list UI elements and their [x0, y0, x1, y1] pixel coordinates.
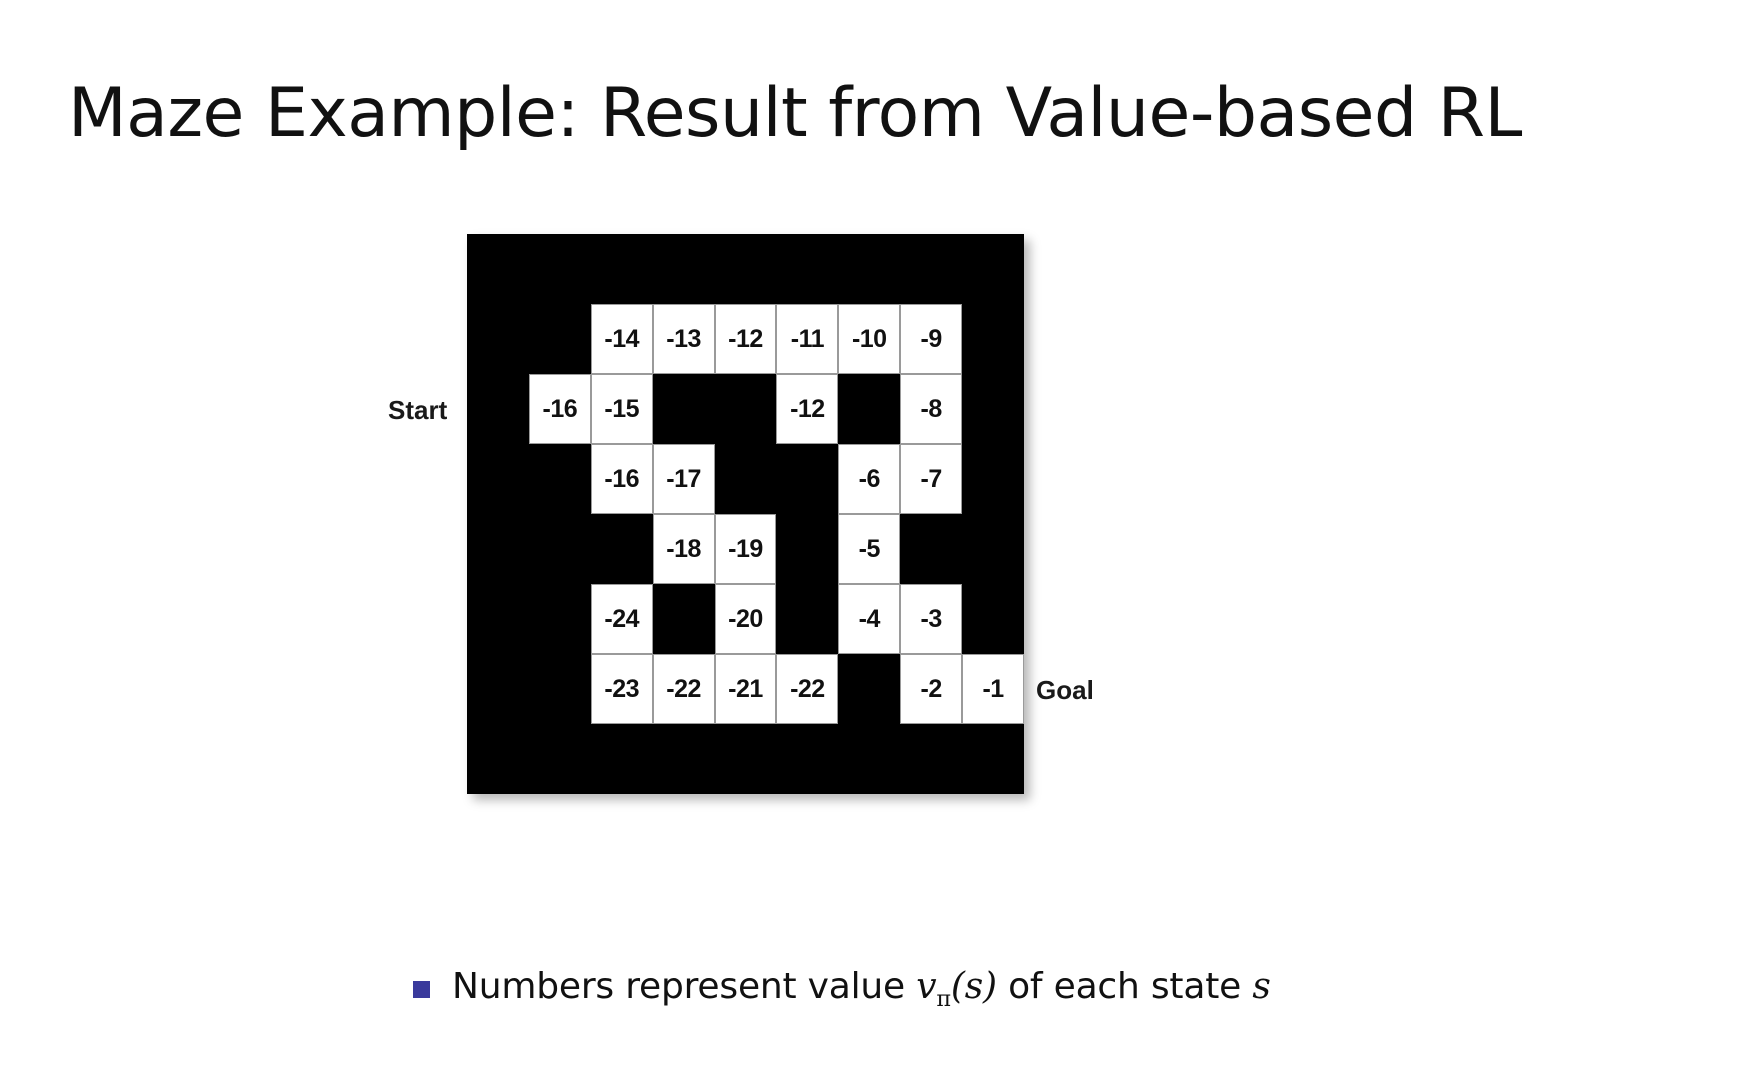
- maze-cell-wall: [467, 234, 529, 304]
- maze-cell-wall: [653, 234, 715, 304]
- maze-cell-open: -16: [591, 444, 653, 514]
- maze-cell-open: -18: [653, 514, 715, 584]
- maze-cell-open: -7: [900, 444, 962, 514]
- maze-cell-wall: [467, 514, 529, 584]
- maze-cell-open: -8: [900, 374, 962, 444]
- maze-cell-wall: [776, 444, 838, 514]
- maze-cell-open: -2: [900, 654, 962, 724]
- maze-cell-value: -5: [859, 537, 880, 562]
- maze-cell-wall: [529, 444, 591, 514]
- maze-cell-value: -20: [728, 607, 763, 632]
- maze-cell-wall: [591, 514, 653, 584]
- maze-cell-value: -14: [604, 327, 639, 352]
- maze-cell-wall: [467, 374, 529, 444]
- maze-cell-wall: [838, 234, 900, 304]
- maze-figure: Start Goal -14-13-12-11-10-9-16-15-12-8-…: [0, 0, 1744, 1080]
- start-label: Start: [388, 395, 447, 426]
- maze-cell-open: -11: [776, 304, 838, 374]
- maze-cell-value: -8: [921, 397, 942, 422]
- maze-cell-wall: [529, 654, 591, 724]
- maze-cell-open: -6: [838, 444, 900, 514]
- maze-cell-wall: [467, 654, 529, 724]
- maze-cell-value: -21: [728, 677, 763, 702]
- maze-cell-wall: [529, 234, 591, 304]
- math-value-symbol: vπ: [916, 966, 951, 1007]
- maze-cell-open: -19: [715, 514, 777, 584]
- maze-cell-wall: [715, 374, 777, 444]
- maze-cell-wall: [838, 654, 900, 724]
- maze-cell-wall: [962, 234, 1024, 304]
- maze-cell-open: -1: [962, 654, 1024, 724]
- maze-cell-value: -2: [921, 677, 942, 702]
- maze-cell-wall: [467, 444, 529, 514]
- maze-cell-wall: [962, 444, 1024, 514]
- maze-cell-wall: [529, 584, 591, 654]
- maze-cell-value: -16: [543, 397, 578, 422]
- maze-cell-value: -9: [921, 327, 942, 352]
- maze-cell-wall: [962, 374, 1024, 444]
- maze-cell-wall: [838, 374, 900, 444]
- bullet-icon: [413, 981, 430, 998]
- math-state-symbol: s: [1252, 966, 1270, 1007]
- maze-cell-value: -13: [666, 327, 701, 352]
- maze-cell-open: -4: [838, 584, 900, 654]
- maze-cell-open: -12: [776, 374, 838, 444]
- maze-cell-wall: [467, 304, 529, 374]
- maze-cell-wall: [776, 514, 838, 584]
- maze-cell-open: -10: [838, 304, 900, 374]
- maze-cell-open: -3: [900, 584, 962, 654]
- maze-cell-wall: [962, 514, 1024, 584]
- maze-cell-wall: [962, 584, 1024, 654]
- maze-cell-value: -16: [604, 467, 639, 492]
- maze-cell-open: -9: [900, 304, 962, 374]
- maze-cell-open: -16: [529, 374, 591, 444]
- goal-label: Goal: [1036, 675, 1094, 706]
- maze-cell-wall: [900, 514, 962, 584]
- maze-cell-value: -7: [921, 467, 942, 492]
- maze-cell-value: -11: [791, 327, 824, 352]
- maze-cell-wall: [591, 724, 653, 794]
- maze-grid: -14-13-12-11-10-9-16-15-12-8-16-17-6-7-1…: [467, 234, 1024, 794]
- maze-cell-value: -1: [982, 677, 1003, 702]
- maze-cell-wall: [776, 584, 838, 654]
- maze-cell-value: -12: [790, 397, 825, 422]
- maze-cell-wall: [529, 724, 591, 794]
- maze-cell-value: -6: [859, 467, 880, 492]
- maze-cell-wall: [776, 724, 838, 794]
- maze-cell-value: -15: [604, 397, 639, 422]
- maze-cell-wall: [529, 514, 591, 584]
- maze-cell-open: -12: [715, 304, 777, 374]
- maze-cell-value: -3: [921, 607, 942, 632]
- maze-cell-value: -22: [666, 677, 701, 702]
- maze-cell-open: -14: [591, 304, 653, 374]
- maze-cell-wall: [653, 374, 715, 444]
- maze-cell-wall: [715, 724, 777, 794]
- maze-cell-open: -21: [715, 654, 777, 724]
- maze-cell-open: -13: [653, 304, 715, 374]
- maze-cell-value: -17: [666, 467, 701, 492]
- maze-cell-wall: [653, 584, 715, 654]
- maze-cell-wall: [900, 234, 962, 304]
- maze-cell-value: -19: [728, 537, 763, 562]
- maze-cell-wall: [653, 724, 715, 794]
- maze-cell-wall: [591, 234, 653, 304]
- maze-cell-wall: [838, 724, 900, 794]
- maze-cell-value: -24: [604, 607, 639, 632]
- maze-cell-value: -10: [852, 327, 887, 352]
- maze-cell-open: -24: [591, 584, 653, 654]
- maze-cell-value: -18: [666, 537, 701, 562]
- maze-cell-open: -20: [715, 584, 777, 654]
- maze-cell-wall: [529, 304, 591, 374]
- caption: Numbers represent value vπ(s) of each st…: [413, 966, 1271, 1012]
- math-state-arg: (s): [951, 966, 997, 1007]
- caption-text: Numbers represent value vπ(s) of each st…: [452, 966, 1271, 1012]
- maze-cell-open: -15: [591, 374, 653, 444]
- math-policy-subscript: π: [936, 986, 950, 1012]
- maze-cell-wall: [715, 444, 777, 514]
- maze-cell-wall: [467, 584, 529, 654]
- maze-cell-open: -22: [776, 654, 838, 724]
- maze-cell-open: -5: [838, 514, 900, 584]
- maze-cell-wall: [467, 724, 529, 794]
- maze-cell-wall: [715, 234, 777, 304]
- maze-cell-value: -12: [728, 327, 763, 352]
- maze-cell-open: -22: [653, 654, 715, 724]
- maze-cell-open: -17: [653, 444, 715, 514]
- maze-cell-value: -23: [604, 677, 639, 702]
- maze-cell-wall: [776, 234, 838, 304]
- maze-cell-value: -22: [790, 677, 825, 702]
- maze-cell-wall: [962, 724, 1024, 794]
- maze-cell-value: -4: [859, 607, 880, 632]
- maze-cell-wall: [900, 724, 962, 794]
- maze-cell-open: -23: [591, 654, 653, 724]
- maze-cell-wall: [962, 304, 1024, 374]
